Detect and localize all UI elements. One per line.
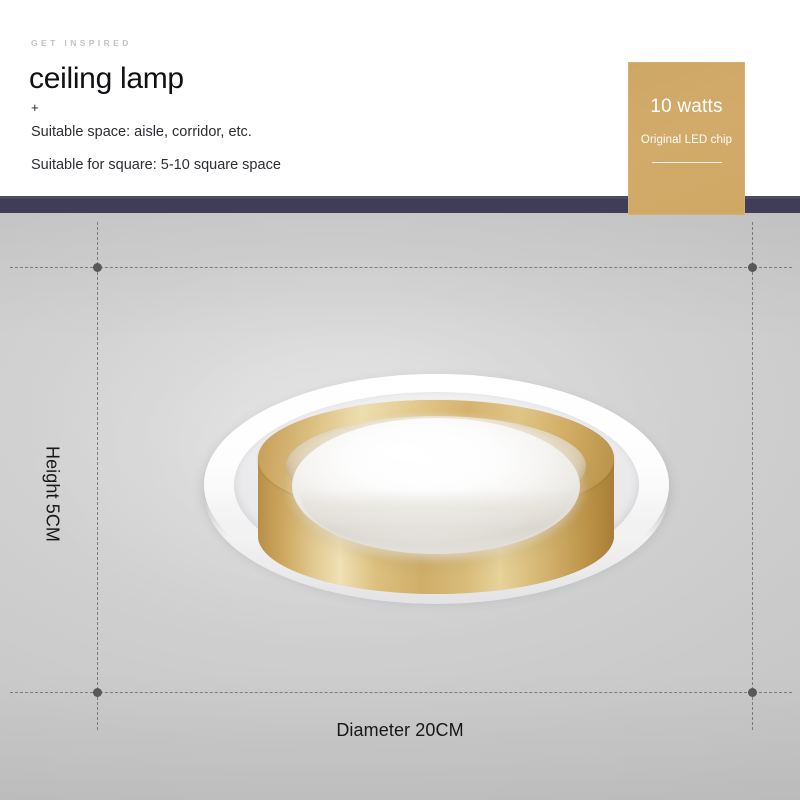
guide-line-top bbox=[10, 267, 792, 268]
diffuser-highlight bbox=[328, 428, 478, 476]
height-label: Height 5CM bbox=[42, 446, 63, 542]
guide-dot-top-left bbox=[93, 263, 102, 272]
guide-dot-top-right bbox=[748, 263, 757, 272]
guide-line-left bbox=[97, 222, 98, 730]
guide-dot-bottom-right bbox=[748, 688, 757, 697]
badge-chip-label: Original LED chip bbox=[628, 134, 745, 146]
ceiling-lamp-product bbox=[196, 356, 676, 636]
product-detail-image: GET INSPIRED ceiling lamp + Suitable spa… bbox=[0, 0, 800, 800]
badge-underline bbox=[652, 162, 722, 163]
page-title: ceiling lamp bbox=[29, 62, 184, 96]
product-stage bbox=[0, 212, 800, 800]
guide-line-bottom bbox=[10, 692, 792, 693]
guide-line-right bbox=[752, 222, 753, 730]
wattage-badge: 10 watts Original LED chip bbox=[628, 62, 745, 215]
diameter-label: Diameter 20CM bbox=[0, 720, 800, 741]
badge-wattage-label: 10 watts bbox=[628, 96, 745, 118]
suitable-space-text: Suitable space: aisle, corridor, etc. bbox=[31, 124, 252, 140]
eyebrow-label: GET INSPIRED bbox=[31, 38, 132, 48]
suitable-square-text: Suitable for square: 5-10 square space bbox=[31, 157, 281, 173]
plus-symbol: + bbox=[31, 101, 39, 114]
guide-dot-bottom-left bbox=[93, 688, 102, 697]
